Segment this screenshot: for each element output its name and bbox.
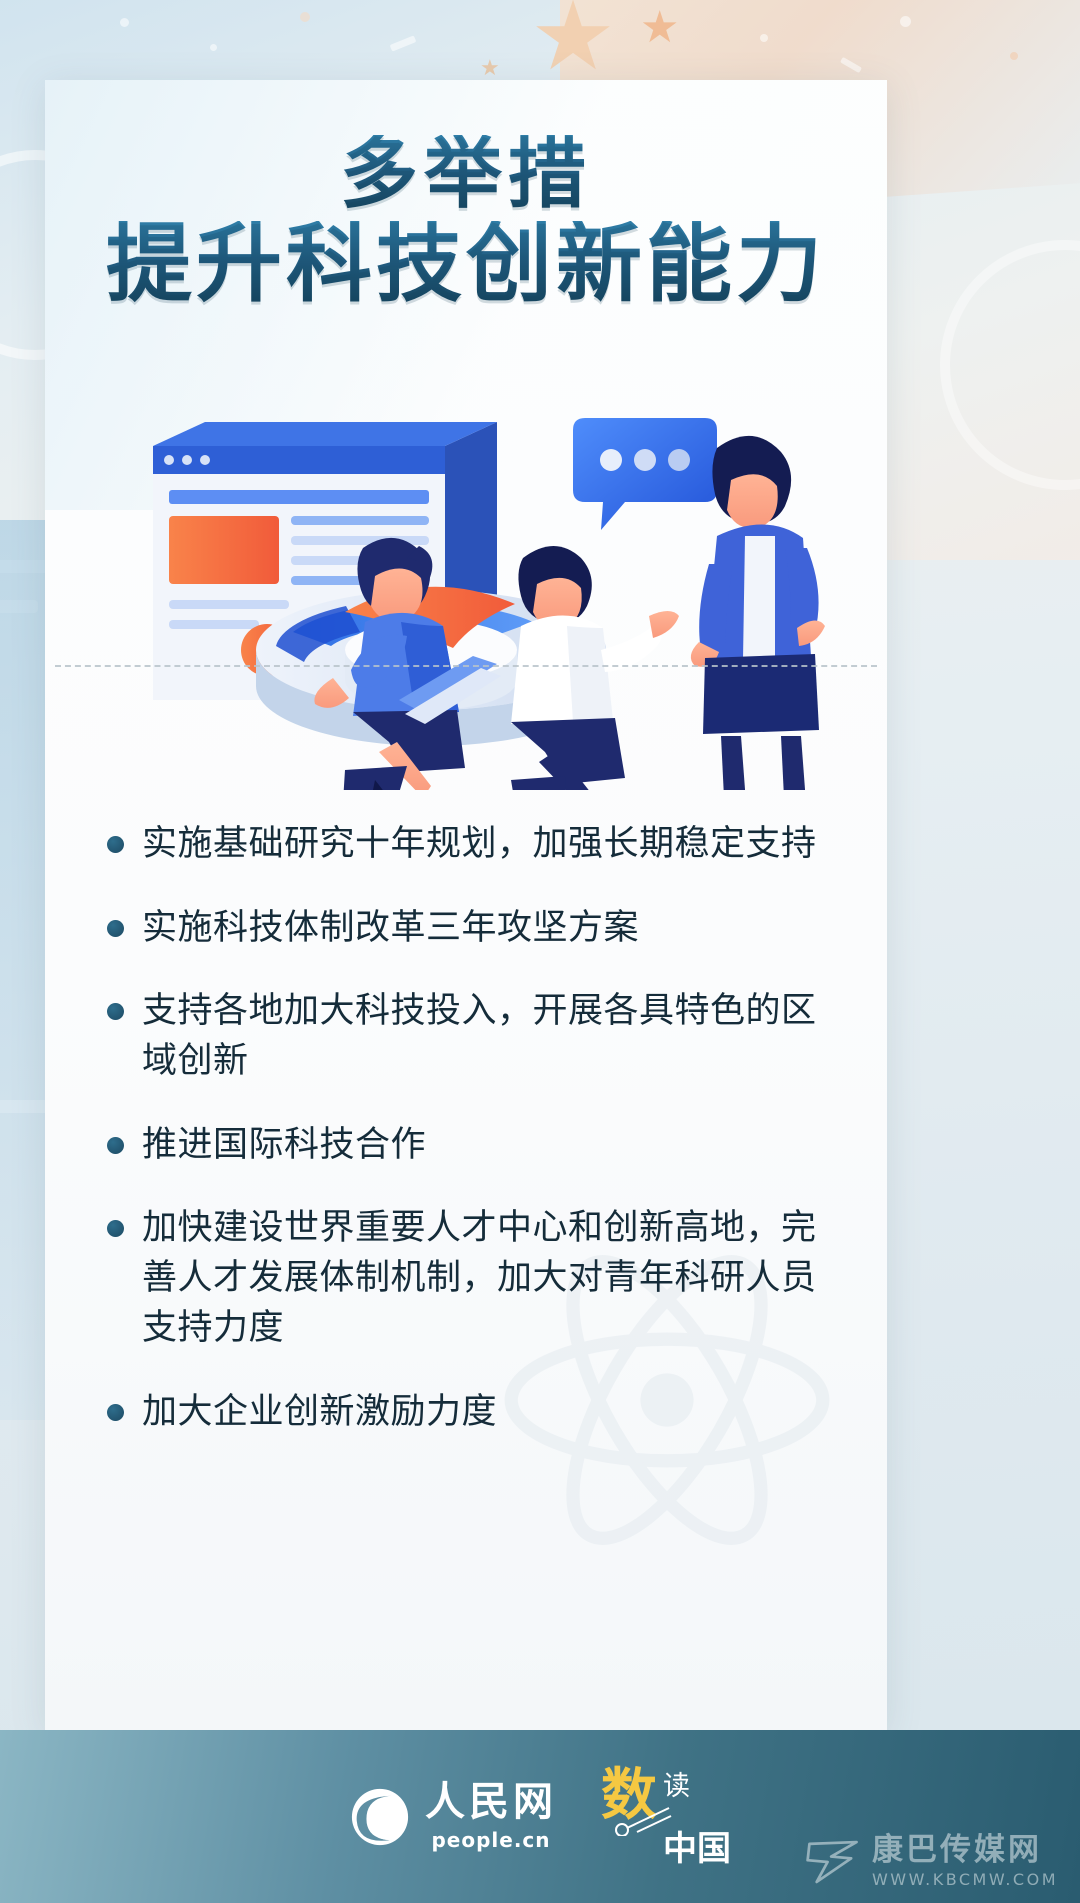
list-item-label: 实施基础研究十年规划，加强长期稳定支持 [142,820,817,870]
watermark-han: 康巴传媒网 [872,1834,1058,1867]
page-title-line-2: 提升科技创新能力 [45,221,887,309]
page-title-line-1: 多举措 [45,135,887,215]
star-icon-small: ★ [640,6,679,50]
people-globe-icon [349,1786,411,1848]
site-watermark: 康巴传媒网 WWW.KBCMW.COM [804,1834,1058,1889]
people-logo-han: 人民网 [425,1782,557,1822]
bullet-dot-icon [107,1220,124,1237]
bullet-dot-icon [107,1404,124,1421]
people-cn-logo[interactable]: 人民网 people.cn [349,1782,557,1852]
confetti-dot [120,18,129,27]
list-item: 实施基础研究十年规划，加强长期稳定支持 [107,820,837,870]
bullet-dot-icon [107,920,124,937]
confetti-dot [760,34,768,42]
list-item-label: 支持各地加大科技投入，开展各具特色的区域创新 [142,987,837,1086]
star-icon-tiny: ★ [480,58,500,80]
list-item-label: 加大企业创新激励力度 [142,1388,497,1438]
people-logo-en: people.cn [431,1828,550,1852]
bullet-dot-icon [107,1003,124,1020]
title-block: 多举措 提升科技创新能力 [45,135,887,308]
hero-illustration [45,350,887,790]
bullet-dot-icon [107,836,124,853]
footer-bar: 人民网 people.cn 数 读 中国 [0,1730,1080,1903]
watermark-url: WWW.KBCMW.COM [872,1870,1058,1889]
list-item: 推进国际科技合作 [107,1121,837,1171]
poster-root: ★ ★ ★ 多举措 提升科技创新能力 [0,0,1080,1903]
list-item: 支持各地加大科技投入，开展各具特色的区域创新 [107,987,837,1086]
shudu-logo-zhongguo: 中国 [663,1832,731,1866]
list-item: 实施科技体制改革三年攻坚方案 [107,904,837,954]
person-middle-graphic [505,546,679,790]
list-item: 加快建设世界重要人才中心和创新高地，完善人才发展体制机制，加大对青年科研人员支持… [107,1204,837,1353]
chat-bubble-graphic [573,418,717,530]
confetti-dot [300,12,310,22]
bullet-dot-icon [107,1137,124,1154]
shudu-logo-du: 读 [663,1773,731,1800]
list-item-label: 实施科技体制改革三年攻坚方案 [142,904,639,954]
list-item-label: 加快建设世界重要人才中心和创新高地，完善人才发展体制机制，加大对青年科研人员支持… [142,1204,837,1353]
confetti-dot [900,16,911,27]
kbcmw-mark-icon [804,1836,862,1888]
confetti-dot [210,44,217,51]
measures-list: 实施基础研究十年规划，加强长期稳定支持 实施科技体制改革三年攻坚方案 支持各地加… [107,820,837,1471]
section-divider [55,665,877,667]
content-card: 多举措 提升科技创新能力 [45,80,887,1730]
confetti-dot [1010,52,1018,60]
shudu-zhongguo-logo[interactable]: 数 读 中国 [601,1767,731,1866]
list-item: 加大企业创新激励力度 [107,1388,837,1438]
star-icon-large: ★ [530,0,616,84]
list-item-label: 推进国际科技合作 [142,1121,426,1171]
